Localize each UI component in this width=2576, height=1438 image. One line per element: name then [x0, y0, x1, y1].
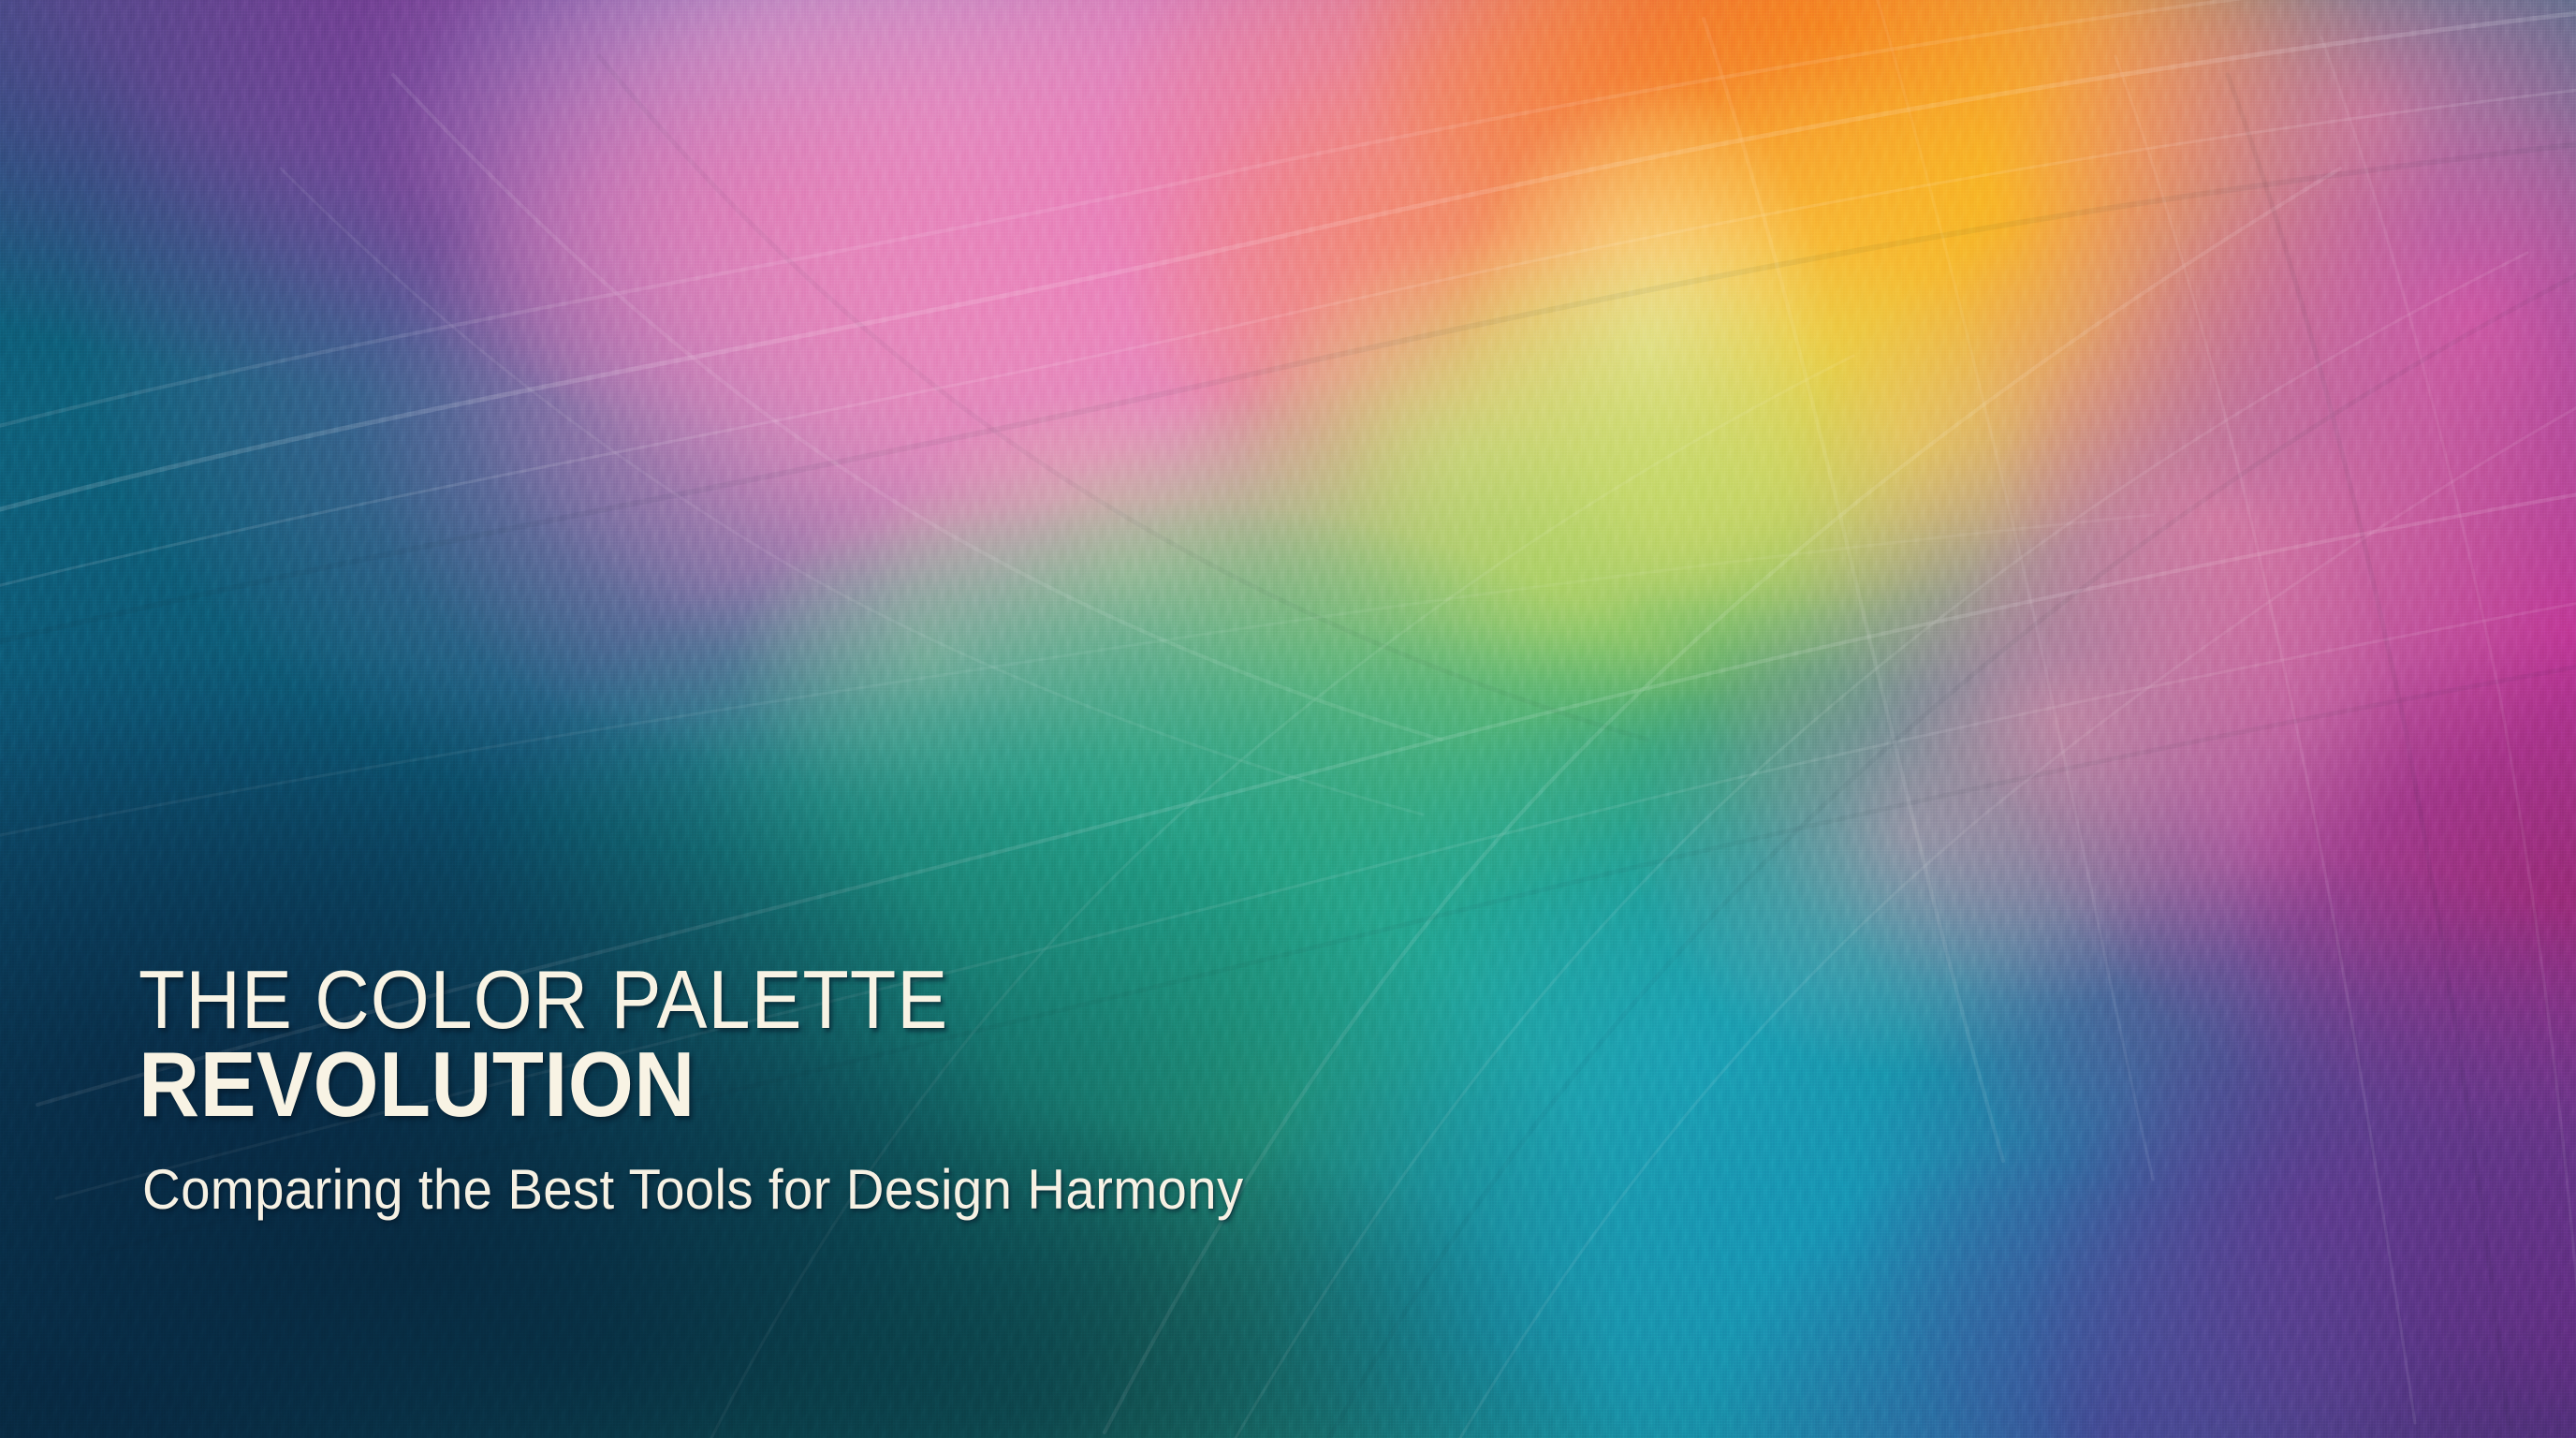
brushstroke-highlight-ribbons [0, 0, 2576, 1438]
title-line-two: REVOLUTION [139, 1041, 1775, 1128]
canvas-texture [0, 0, 2576, 1438]
headline-scrim [0, 0, 2576, 1438]
background-cream-streak [0, 0, 2576, 1438]
background-base-wash [0, 0, 2576, 1438]
background-lavender-wedge [0, 0, 2576, 1438]
subtitle: Comparing the Best Tools for Design Harm… [142, 1160, 1810, 1219]
background-purple-mass [0, 0, 2576, 1438]
brush-striation-layer-a [0, 0, 2576, 1438]
headline-block: THE COLOR PALETTE REVOLUTION Comparing t… [139, 961, 1917, 1219]
background-golden-band [0, 0, 2576, 1438]
background-emerald-mass [0, 0, 2576, 1438]
title-line-one: THE COLOR PALETTE [139, 961, 1775, 1039]
background-magenta-wall [0, 0, 2576, 1438]
banner-canvas: THE COLOR PALETTE REVOLUTION Comparing t… [0, 0, 2576, 1438]
background-orange-hotspot [0, 0, 2576, 1438]
brush-striation-layer-c [0, 0, 2576, 1438]
background-teal-column [0, 0, 2576, 1438]
background-pink-swirl [0, 0, 2576, 1438]
background-deep-trough [0, 0, 2576, 1438]
background-rose-wash [0, 0, 2576, 1438]
vignette-overlay [0, 0, 2576, 1438]
brushstroke-shadow-ribbons [0, 0, 2576, 1438]
background-cyan-sweep [0, 0, 2576, 1438]
brush-striation-layer-b [0, 0, 2576, 1438]
background-chartreuse-band [0, 0, 2576, 1438]
background-violet-corner [0, 0, 2576, 1438]
